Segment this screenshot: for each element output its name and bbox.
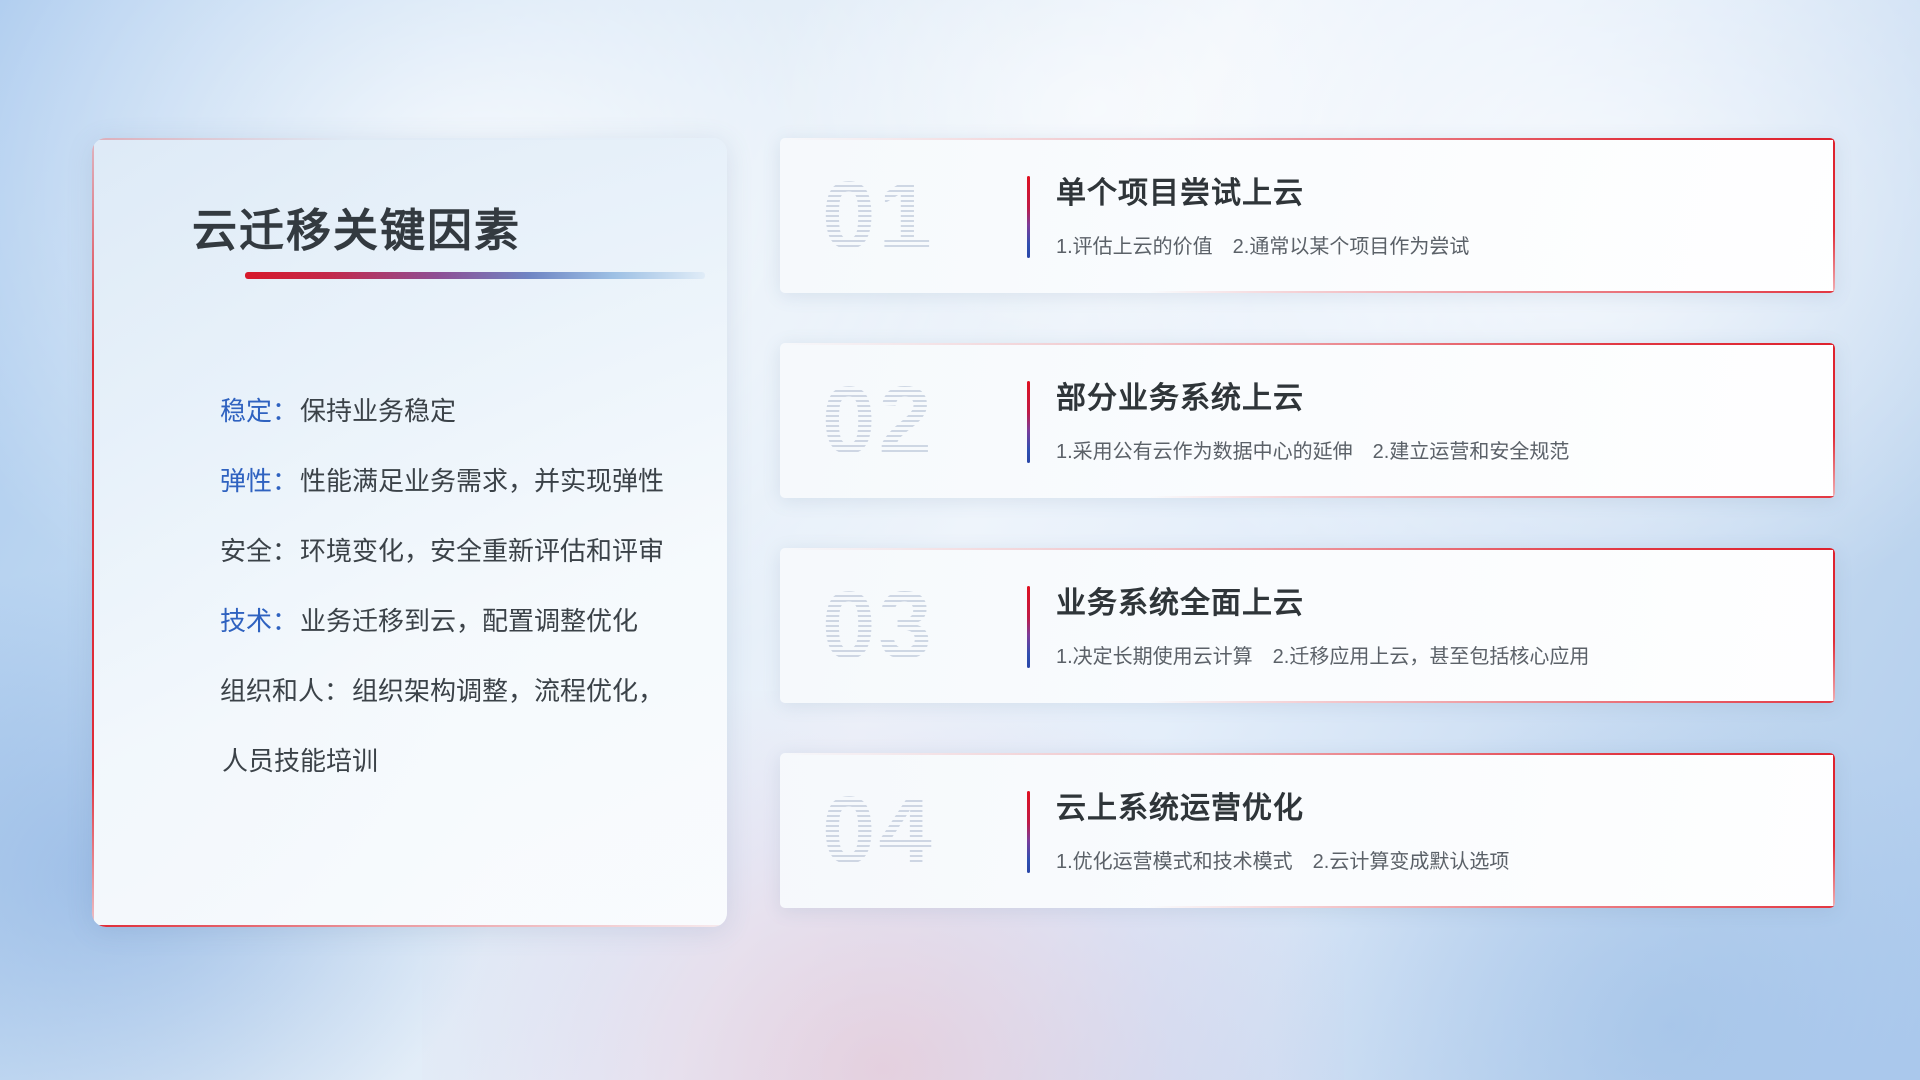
card-title: 云上系统运营优化 [1056,783,1304,827]
factor-item: 弹性：性能满足业务需求，并实现弹性 [220,468,687,494]
slide-content: 云迁移关键因素 稳定：保持业务稳定 弹性：性能满足业务需求，并实现弹性 安全：环… [0,0,1920,1080]
stage-card[interactable]: 04 云上系统运营优化 1.优化运营模式和技术模式 2.云计算变成默认选项 [780,753,1835,908]
card-bottom-accent-border [1149,701,1835,703]
factor-key: 组织和人： [220,676,350,706]
card-accent-bar [1027,176,1030,258]
card-subtitle: 1.决定长期使用云计算 2.迁移应用上云，甚至包括核心应用 [1056,640,1589,669]
factor-item: 组织和人：组织架构调整，流程优化， [220,678,687,704]
factor-key: 技术： [220,606,298,636]
card-title: 单个项目尝试上云 [1056,168,1304,212]
card-accent-bar [1027,586,1030,668]
factor-key: 稳定： [220,396,298,426]
card-right-accent-border [1833,343,1835,498]
card-right-accent-border [1833,138,1835,293]
card-right-accent-border [1833,548,1835,703]
factor-value: 性能满足业务需求，并实现弹性 [300,466,664,496]
factor-value: 人员技能培训 [222,746,378,776]
stage-number-watermark: 04 [822,775,1022,887]
factor-value: 保持业务稳定 [300,396,456,426]
factor-item: 安全：环境变化，安全重新评估和评审 [220,538,687,564]
card-subtitle: 1.评估上云的价值 2.通常以某个项目作为尝试 [1056,230,1469,259]
stage-card-list: 01 单个项目尝试上云 1.评估上云的价值 2.通常以某个项目作为尝试 02 部… [780,138,1835,958]
card-top-accent-border [782,138,1835,140]
factor-value: 环境变化，安全重新评估和评审 [300,536,664,566]
stage-number-watermark: 03 [822,570,1022,682]
factor-list: 稳定：保持业务稳定 弹性：性能满足业务需求，并实现弹性 安全：环境变化，安全重新… [220,398,687,818]
card-title: 业务系统全面上云 [1056,578,1304,622]
panel-top-edge [92,138,727,140]
card-bottom-accent-border [1149,906,1835,908]
card-subtitle: 1.优化运营模式和技术模式 2.云计算变成默认选项 [1056,845,1509,874]
factor-value: 业务迁移到云，配置调整优化 [300,606,638,636]
factor-item: 技术：业务迁移到云，配置调整优化 [220,608,687,634]
card-bottom-accent-border [1149,496,1835,498]
factor-key: 安全： [220,536,298,566]
panel-title: 云迁移关键因素 [192,194,521,259]
stage-card[interactable]: 02 部分业务系统上云 1.采用公有云作为数据中心的延伸 2.建立运营和安全规范 [780,343,1835,498]
card-accent-bar [1027,381,1030,463]
card-right-accent-border [1833,753,1835,908]
stage-number-watermark: 01 [822,160,1022,272]
factor-item: 人员技能培训 [220,748,687,774]
key-factors-panel: 云迁移关键因素 稳定：保持业务稳定 弹性：性能满足业务需求，并实现弹性 安全：环… [92,138,727,927]
card-subtitle: 1.采用公有云作为数据中心的延伸 2.建立运营和安全规范 [1056,435,1569,464]
stage-number-watermark: 02 [822,365,1022,477]
card-bottom-accent-border [1149,291,1835,293]
panel-left-accent-border [92,138,94,927]
stage-card[interactable]: 01 单个项目尝试上云 1.评估上云的价值 2.通常以某个项目作为尝试 [780,138,1835,293]
card-title: 部分业务系统上云 [1056,373,1304,417]
stage-card[interactable]: 03 业务系统全面上云 1.决定长期使用云计算 2.迁移应用上云，甚至包括核心应… [780,548,1835,703]
factor-item: 稳定：保持业务稳定 [220,398,687,424]
panel-bottom-accent-border [92,925,727,927]
card-top-accent-border [782,343,1835,345]
factor-key: 弹性： [220,466,298,496]
card-top-accent-border [782,753,1835,755]
card-accent-bar [1027,791,1030,873]
title-underline-gradient [245,272,705,279]
factor-value: 组织架构调整，流程优化， [352,676,664,706]
card-top-accent-border [782,548,1835,550]
